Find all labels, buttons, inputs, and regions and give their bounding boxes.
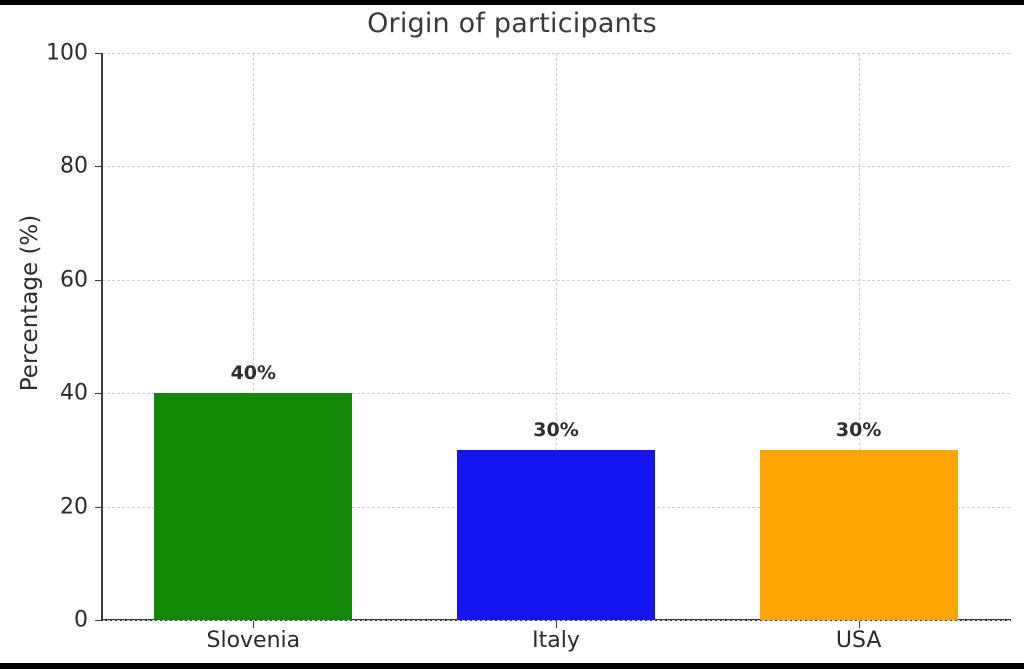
- plot-area: [102, 53, 1010, 620]
- y-tick-mark: [95, 507, 103, 508]
- figure-bottom-border: [0, 663, 1024, 669]
- x-tick-label-slovenia: Slovenia: [153, 628, 353, 653]
- bar-italy[interactable]: [457, 450, 655, 620]
- y-tick-mark: [95, 53, 103, 54]
- figure-top-border: [0, 0, 1024, 5]
- x-tick-label-usa: USA: [759, 628, 959, 653]
- y-tick-mark: [95, 620, 103, 621]
- y-tick-label: 60: [0, 267, 88, 292]
- chart-figure: Origin of participants Percentage (%) 02…: [0, 0, 1024, 669]
- y-tick-mark: [95, 393, 103, 394]
- bar-value-label-italy: 30%: [496, 419, 616, 441]
- y-tick-mark: [95, 280, 103, 281]
- y-tick-mark: [95, 166, 103, 167]
- bar-slovenia[interactable]: [154, 393, 352, 620]
- x-tick-mark: [859, 621, 860, 628]
- chart-title: Origin of participants: [0, 8, 1024, 39]
- y-tick-label: 0: [0, 608, 88, 633]
- y-tick-label: 100: [0, 41, 88, 66]
- x-tick-label-italy: Italy: [456, 628, 656, 653]
- y-tick-label: 80: [0, 154, 88, 179]
- bar-value-label-usa: 30%: [799, 419, 919, 441]
- x-tick-mark: [253, 621, 254, 628]
- y-tick-label: 40: [0, 381, 88, 406]
- x-tick-mark: [556, 621, 557, 628]
- y-tick-label: 20: [0, 494, 88, 519]
- bar-value-label-slovenia: 40%: [193, 362, 313, 384]
- bar-usa[interactable]: [760, 450, 958, 620]
